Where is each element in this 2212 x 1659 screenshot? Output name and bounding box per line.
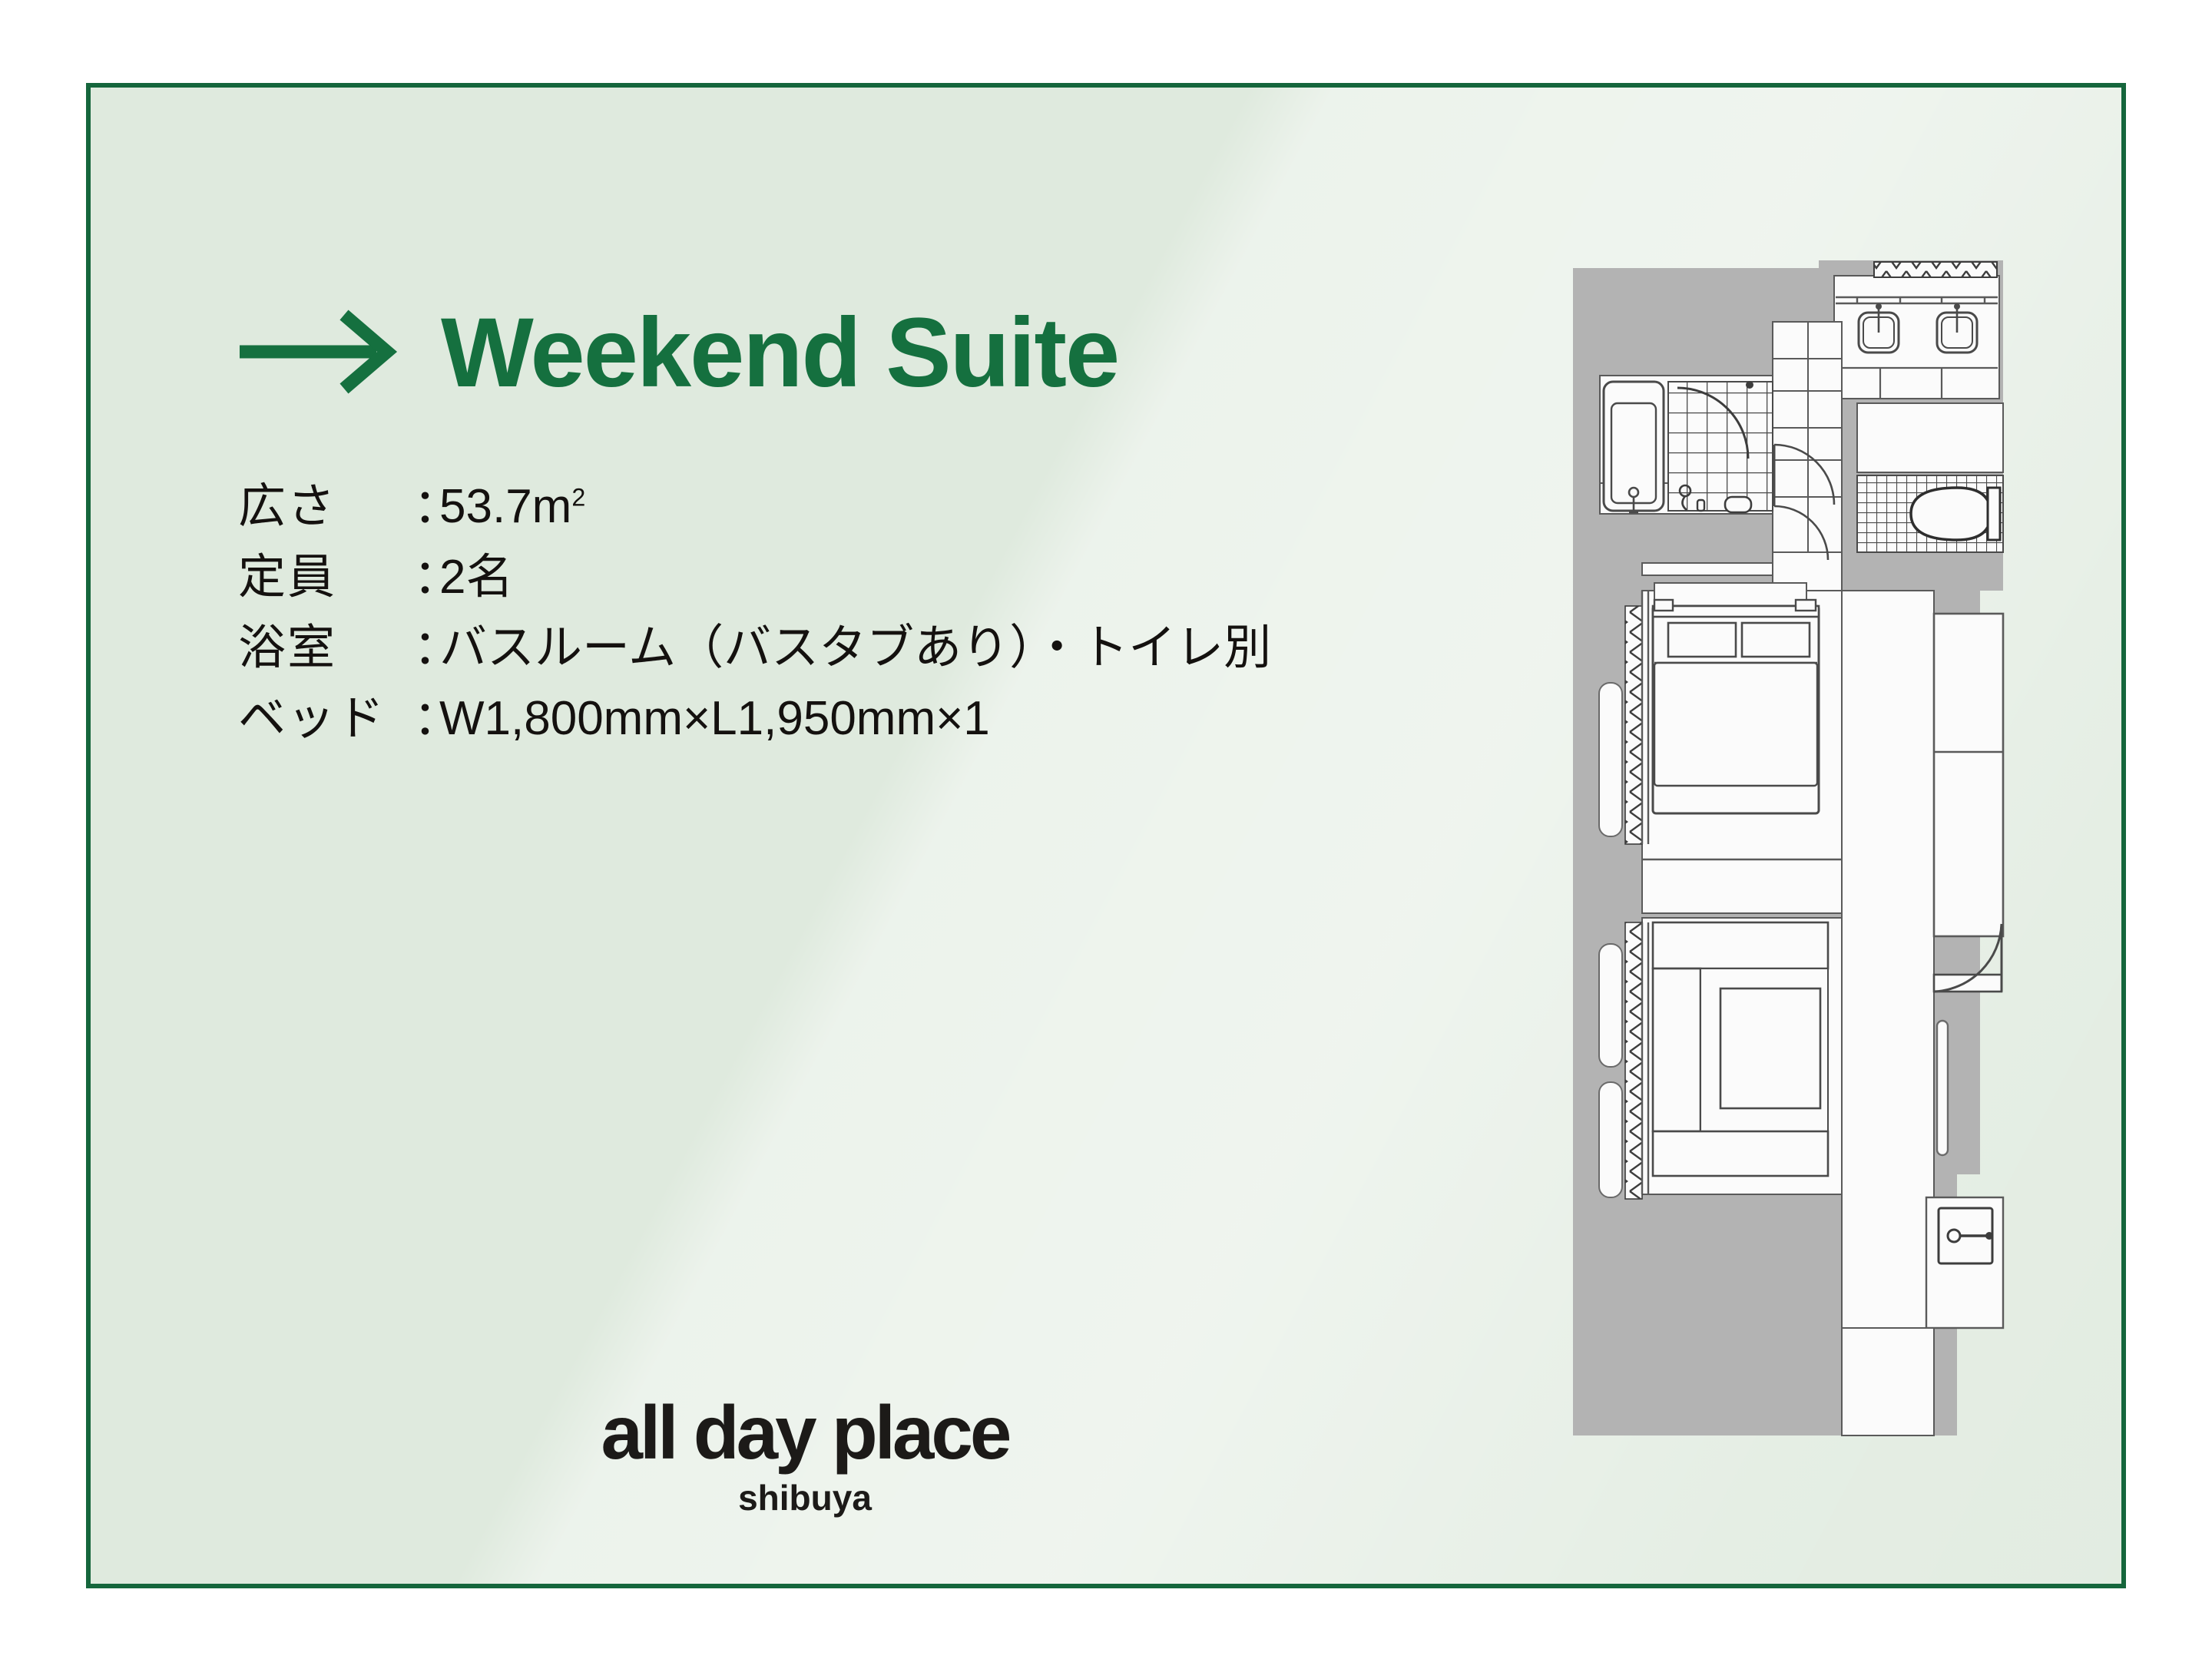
spec-label-bed: ベッド bbox=[238, 684, 413, 754]
page-title: Weekend Suite bbox=[441, 304, 1118, 402]
slide-card: Weekend Suite 広さ ： 53.7m2 定員 ： 2名 浴室 ： バ… bbox=[86, 83, 2126, 1588]
spec-value-capacity: 2名 bbox=[439, 542, 513, 613]
page-title-row: Weekend Suite bbox=[237, 304, 1118, 402]
wardrobe-icon bbox=[1934, 614, 2003, 936]
spec-row-area: 広さ ： 53.7m2 bbox=[238, 472, 1271, 542]
spec-value-area: 53.7m2 bbox=[439, 472, 585, 542]
toilet-icon bbox=[1911, 488, 2000, 540]
spec-colon: ： bbox=[413, 472, 439, 542]
bathtub-icon bbox=[1604, 382, 1664, 512]
double-bed-icon bbox=[1653, 600, 1819, 813]
brand-logo-location: shibuya bbox=[575, 1477, 1035, 1518]
brand-logo-name: all day place bbox=[575, 1393, 1035, 1472]
entry-corridor bbox=[1842, 591, 1934, 1435]
spec-value-area-unit-exponent: 2 bbox=[571, 483, 585, 511]
spec-value-bathroom: バスルーム（バスタブあり）・トイレ別 bbox=[439, 613, 1271, 684]
spec-label-bathroom: 浴室 bbox=[238, 613, 413, 684]
spec-colon: ： bbox=[413, 542, 439, 613]
brand-logo: all day place shibuya bbox=[575, 1393, 1035, 1518]
room-vanity bbox=[1834, 262, 1999, 399]
room-bathroom bbox=[1600, 376, 1773, 514]
room-living bbox=[1642, 918, 1842, 1194]
spec-row-capacity: 定員 ： 2名 bbox=[238, 542, 1271, 613]
room-bedroom bbox=[1642, 583, 1842, 913]
spec-label-area: 広さ bbox=[238, 472, 413, 542]
spec-label-capacity: 定員 bbox=[238, 542, 413, 613]
entry-rail bbox=[1937, 1021, 1948, 1155]
spec-row-bed: ベッド ： W1,800mm×L1,950mm×1 bbox=[238, 684, 1271, 754]
spec-value-area-unit: m bbox=[532, 480, 572, 533]
spec-colon: ： bbox=[413, 613, 439, 684]
floorplan bbox=[1527, 253, 2065, 1451]
spec-colon: ： bbox=[413, 684, 439, 754]
entry-basin-icon bbox=[1926, 1197, 2003, 1328]
spec-list: 広さ ： 53.7m2 定員 ： 2名 浴室 ： バスルーム（バスタブあり）・ト… bbox=[238, 472, 1271, 754]
spec-row-bathroom: 浴室 ： バスルーム（バスタブあり）・トイレ別 bbox=[238, 613, 1271, 684]
room-toilet bbox=[1857, 403, 2003, 552]
spec-value-bed: W1,800mm×L1,950mm×1 bbox=[439, 684, 990, 754]
right-arrow-icon bbox=[237, 306, 406, 402]
spec-value-area-number: 53.7 bbox=[439, 480, 532, 533]
sofa-icon bbox=[1653, 922, 1828, 1176]
